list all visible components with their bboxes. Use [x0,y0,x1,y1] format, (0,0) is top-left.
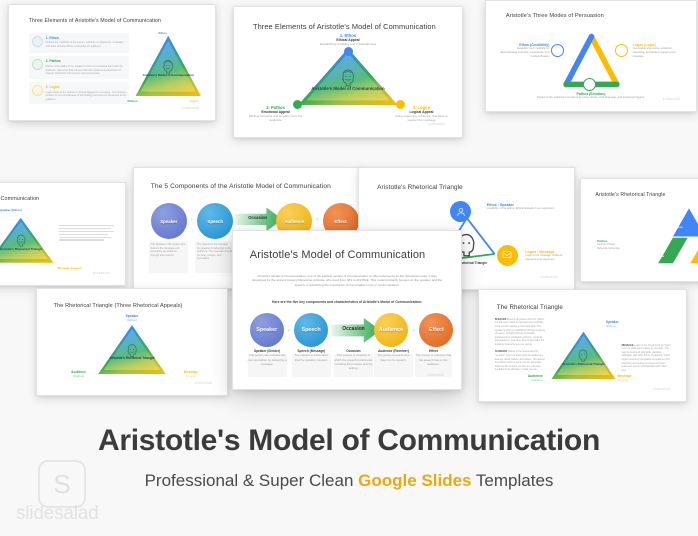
apex-dot [344,47,353,56]
triangle-apex-label: Speaker (Ethos) [0,208,22,212]
list-item-label: 3. Logos [46,85,127,89]
slidesalad-logo-mark: S [38,460,86,508]
node-body-logos: Use logical arguments, evidence, reasoni… [633,47,684,59]
triangle-apex-label: Ethos [159,31,167,35]
triangle-apex-sub: (Ethos) [111,318,154,322]
component-body: The Speaker is the person who delivers t… [149,241,188,260]
triangle-center-label: Aristotle's Rhetorical Triangle [109,356,154,360]
list-item[interactable]: 2. Pathos Pathos is the ability of the s… [29,56,130,79]
component-speaker[interactable]: Speaker [151,203,187,239]
component-body: The Speech is the message the speaker is… [195,241,234,263]
slide-title: The Rhetorical Triangle [497,304,563,311]
slide-footer-brand: slidesalad [653,387,670,391]
block-body: Pathos is the Greek word for "emotion". … [495,350,545,371]
annotation-item: Personal connection [597,247,641,251]
rhetorical-triangle: Aristotle's Rhetorical Triangle [551,332,615,380]
node-body-ethos: Credibility of the author. Ethical appea… [487,207,556,211]
slide-thumbnail-three-elements-list[interactable]: Three Elements of Aristotle's Model of C… [8,4,216,121]
message-icon [501,249,513,261]
component-label: Speech [197,203,233,239]
slidesalad-logo-text: slidesalad [16,503,126,525]
rhetorical-triangle: Aristotle's Rhetorical Triangle [0,218,53,263]
slide-title: Aristotle's Rhetorical Triangle [595,192,665,198]
promo-subtitle: Professional & Super Clean Google Slides… [0,471,698,491]
slide-thumbnail-rhetorical-triangle-segments[interactable]: Aristotle's Rhetorical Triangle Ethos Pa… [580,178,698,282]
logos-icon [32,85,43,96]
block-body: Ethos is the Greek word for "ethics" but… [495,318,545,346]
slide-footer-brand: slidesalad [541,275,558,279]
promo-subtitle-highlight: Google Slides [358,471,471,490]
slide-footer-brand: slidesalad [182,106,199,110]
slide-title: Aristotle's Rhetorical Triangle [377,184,463,191]
triangle-center-label: Aristotle's Rhetorical Triangle [0,247,43,251]
component-body: The content or information that the spea… [292,353,331,361]
slide-title: Three Elements of Aristotle's Model of C… [29,18,162,24]
triangle-apex-subtext: Establishing credibility and trustworthi… [320,42,376,46]
block-heading: SPEAKER [495,318,507,321]
triangle-apex-sub: (Ethos) [606,324,619,328]
triangle-center-label: Aristotle's Model of Communication [143,73,194,77]
list-item-body: Defines the credibility of the source, a… [46,41,127,49]
list-item-label: 1. Ethos [46,36,127,40]
slide-footer-brand: slidesalad [93,271,110,275]
chevron-right-icon: › [316,217,318,223]
component-speech[interactable]: Speech [197,203,233,239]
intro-paragraph: Aristotle's Model of Communication, one … [250,274,444,288]
slide-title: Aristotle's Model of Communication [0,196,39,202]
component-desc-box: The Speech is the message the speaker is… [195,241,234,273]
component-label: Speech [294,313,328,347]
component-body: The context or situation in which the sp… [334,353,373,370]
triangle-right-sub: (Logos) [171,374,210,378]
segment-label-pathos: Pathos [654,254,664,258]
list-item-label: 2. Pathos [46,59,127,63]
triangle-left-sub: (Pathos) [59,374,98,378]
rhetorical-triangle: Aristotle's Model of Communication [135,36,201,97]
rhetorical-triangle: Aristotle's Model of Communication [298,48,397,105]
triangle-right-sub: (Logos) [618,378,632,382]
component-label: Speaker [151,203,187,239]
logos-node[interactable] [615,44,628,57]
component-audience[interactable]: Audience [374,313,408,347]
pathos-icon [32,59,43,70]
slide-thumbnail-three-modes-persuasion[interactable]: Aristotle's Three Modes of Persuasion Et… [485,0,697,112]
slide-thumbnail-model-left-partial[interactable]: Aristotle's Model of Communication Arist… [0,182,126,286]
pathos-node[interactable] [583,78,596,91]
triangle-center-label: Aristotle's Model of Communication [311,86,384,92]
slide-title: Aristotle's Three Modes of Persuasion [506,13,604,19]
component-label: Speaker [250,313,284,347]
slide-title: The 5 Components of the Aristotle Model … [151,183,331,190]
list-item-body: Logos refers to the factual or rational … [46,91,127,102]
speaker-icon [455,206,467,218]
promo-subtitle-suffix: Templates [472,471,554,490]
component-desc-box: The Speaker is the person who delivers t… [149,241,188,273]
subheading: Here are the five key components and cha… [250,300,444,304]
component-label: Occasion [238,215,277,220]
slide-title: The Rhetorical Triangle (Three Rhetorica… [54,303,183,309]
node-body-logos: Logic of the message. Rational appeal of… [525,254,566,262]
block-body: Logos is the Greek word for "logic". Use… [622,344,672,372]
ethos-icon [32,36,43,47]
block-heading: MESSAGE [622,344,634,347]
slide-footer-brand: slidesalad [427,373,444,377]
triangle-left-sub: (Pathos) [528,378,543,382]
node-body-pathos: Appeal to the audience's emotions by usi… [516,96,666,99]
triangle-right-subtext: Using reasoning, evidence, and facts to … [393,114,449,122]
component-body: The group of people who listen to the sp… [374,353,413,361]
triangle-left-label: Pathos [128,99,138,103]
block-heading: AUDIENCE [495,350,508,353]
component-speaker[interactable]: Speaker [250,313,284,347]
component-speech[interactable]: Speech [294,313,328,347]
chevron-right-icon: › [413,328,415,334]
slide-hero-aristotle-model[interactable]: Aristotle's Model of Communication Arist… [232,230,462,390]
slide-title: Three Elements of Aristotle's Model of C… [253,22,436,31]
slide-thumbnail-three-rhetorical-appeals[interactable]: The Rhetorical Triangle (Three Rhetorica… [36,288,228,396]
rhetorical-triangle: Aristotle's Rhetorical Triangle [98,325,166,374]
list-item[interactable]: 1. Ethos Defines the credibility of the … [29,33,130,54]
slide-thumbnail-three-elements-triangle[interactable]: Three Elements of Aristotle's Model of C… [233,6,463,138]
logo-letter: S [53,469,70,500]
triangle-right-label: Message (Logos) [57,266,82,270]
chevron-right-icon: › [191,217,193,223]
list-item[interactable]: 3. Logos Logos refers to the factual or … [29,82,130,104]
promo-mockup-canvas: Three Elements of Aristotle's Model of C… [0,0,698,536]
slide-footer-brand: slidesalad [428,122,445,126]
slide-footer-brand: slidesalad [663,97,680,101]
slide-thumbnail-rhetorical-triangle-text[interactable]: The Rhetorical Triangle Aristotle's Rhet… [478,289,687,402]
component-label: Audience [374,313,408,347]
list-item-body: Pathos is the ability of the speaker to … [46,65,127,76]
slide-footer-brand: slidesalad [195,381,212,385]
component-effect[interactable]: Effect [419,313,453,347]
triangle-center-label: Aristotle's Rhetorical Triangle [562,362,604,366]
component-label: Effect [419,313,453,347]
node-body-ethos: Establish your credibility by demonstrat… [500,47,550,59]
promo-subtitle-prefix: Professional & Super Clean [145,471,359,490]
chevron-right-icon: › [288,328,290,334]
triangle-right-label: Logos [190,99,199,103]
component-body: The impact or outcome that the speech ha… [415,353,452,366]
triangle-left-subtext: Eliciting emotions and empathy from the … [249,114,303,122]
component-label: Occasion [334,326,373,332]
logos-node[interactable] [497,245,518,266]
segment-label-ethos: Ethos [674,225,682,229]
promo-title: Aristotle's Model of Communication [0,424,698,458]
component-body: The person who initiates the communicati… [248,353,287,366]
aristotle-bust-icon [13,233,28,248]
slide-title: Aristotle's Model of Communication [250,249,425,261]
